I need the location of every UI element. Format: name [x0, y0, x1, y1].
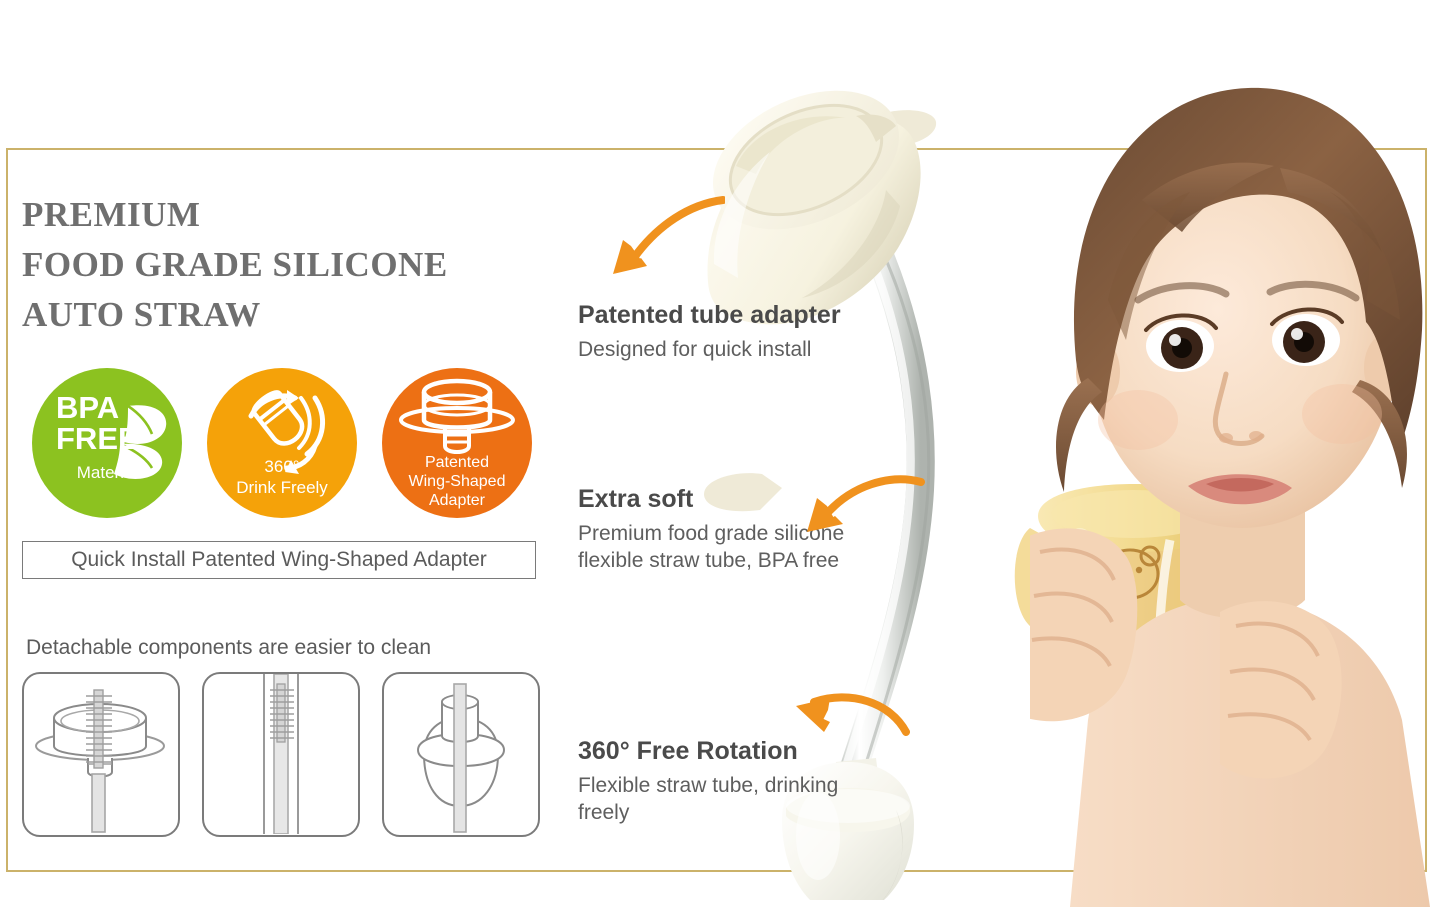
part-weight-ball	[382, 672, 540, 837]
badge-360-drink: 360° Drink Freely	[207, 368, 357, 518]
page-title: PREMIUM FOOD GRADE SILICONE AUTO STRAW	[22, 190, 562, 340]
badge-bpa-title: BPA FREE	[32, 392, 182, 454]
feature-body: Flexible straw tube, drinking freely	[578, 772, 878, 826]
arrow-to-ball	[780, 688, 910, 768]
detachable-label: Detachable components are easier to clea…	[26, 636, 431, 660]
infographic-canvas: BPA FREE FREE Simba	[0, 0, 1435, 907]
feature-patented-tube-adapter: Patented tube adapter Designed for quick…	[578, 300, 908, 363]
part-adapter-cap	[22, 672, 180, 837]
feature-body: Designed for quick install	[578, 336, 908, 363]
badge-row: BPA FREE Material	[32, 368, 552, 518]
arrow-to-adapter	[595, 190, 725, 290]
headline-block: PREMIUM FOOD GRADE SILICONE AUTO STRAW	[22, 190, 562, 340]
baby-photo	[1030, 0, 1435, 907]
part-straw-tube	[202, 672, 360, 837]
badge-wing-label: Patented Wing-Shaped Adapter	[382, 453, 532, 510]
badge-360-label: 360° Drink Freely	[207, 456, 357, 498]
headline-line-2: FOOD GRADE SILICONE	[22, 240, 562, 290]
badge-bpa-subtitle: Material	[32, 463, 182, 483]
arrow-to-tube	[795, 470, 925, 560]
headline-line-3: AUTO STRAW	[22, 290, 562, 340]
badge-bpa-free: BPA FREE Material	[32, 368, 182, 518]
headline-line-1: PREMIUM	[22, 190, 562, 240]
quick-install-note: Quick Install Patented Wing-Shaped Adapt…	[22, 541, 536, 579]
feature-title: Patented tube adapter	[578, 300, 908, 330]
badge-wing-adapter: Patented Wing-Shaped Adapter	[382, 368, 532, 518]
component-boxes	[22, 672, 542, 840]
